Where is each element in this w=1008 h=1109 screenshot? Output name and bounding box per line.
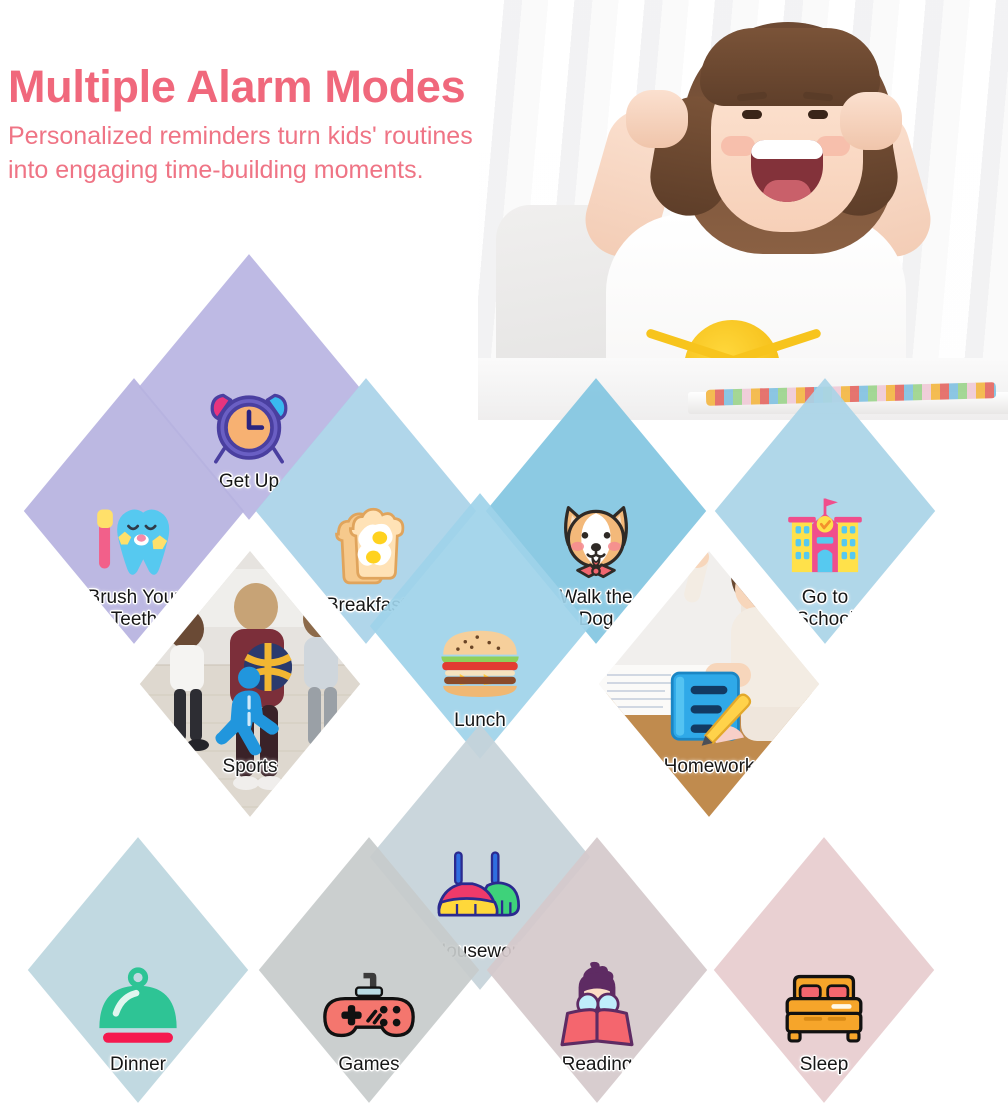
alarm-mode-label: Brush Your Teeth: [88, 587, 181, 630]
alarm-mode-label: Games: [338, 1054, 399, 1075]
toast-egg-icon: [320, 501, 412, 593]
hamburger-icon: [434, 616, 526, 708]
alarm-mode-label: Homework: [664, 756, 755, 777]
alarm-mode-label: Sleep: [800, 1054, 849, 1075]
runner-icon: [204, 662, 296, 754]
alarm-mode-tile-sleep[interactable]: Sleep: [708, 831, 940, 1109]
dog-face-icon: [550, 493, 642, 585]
tooth-brush-icon: [88, 493, 180, 585]
alarm-mode-label: Sports: [223, 756, 278, 777]
headline-block: Multiple Alarm Modes Personalized remind…: [8, 64, 473, 187]
alarm-mode-label: Dinner: [110, 1054, 166, 1075]
alarm-mode-tile-dinner[interactable]: Dinner: [22, 831, 254, 1109]
alarm-mode-label: Reading: [562, 1054, 633, 1075]
reading-kid-icon: [551, 960, 643, 1052]
gamepad-icon: [323, 960, 415, 1052]
alarm-mode-label: Go to School: [796, 587, 854, 630]
page-title: Multiple Alarm Modes: [8, 64, 473, 109]
broom-icon: [434, 847, 526, 939]
food-cloche-icon: [92, 960, 184, 1052]
page-subtitle: Personalized reminders turn kids' routin…: [8, 119, 473, 187]
alarm-mode-label: Get Up: [219, 471, 279, 492]
bed-icon: [778, 960, 870, 1052]
school-icon: [779, 493, 871, 585]
notebook-pen-icon: [663, 662, 755, 754]
alarm-clock-icon: [203, 377, 295, 469]
